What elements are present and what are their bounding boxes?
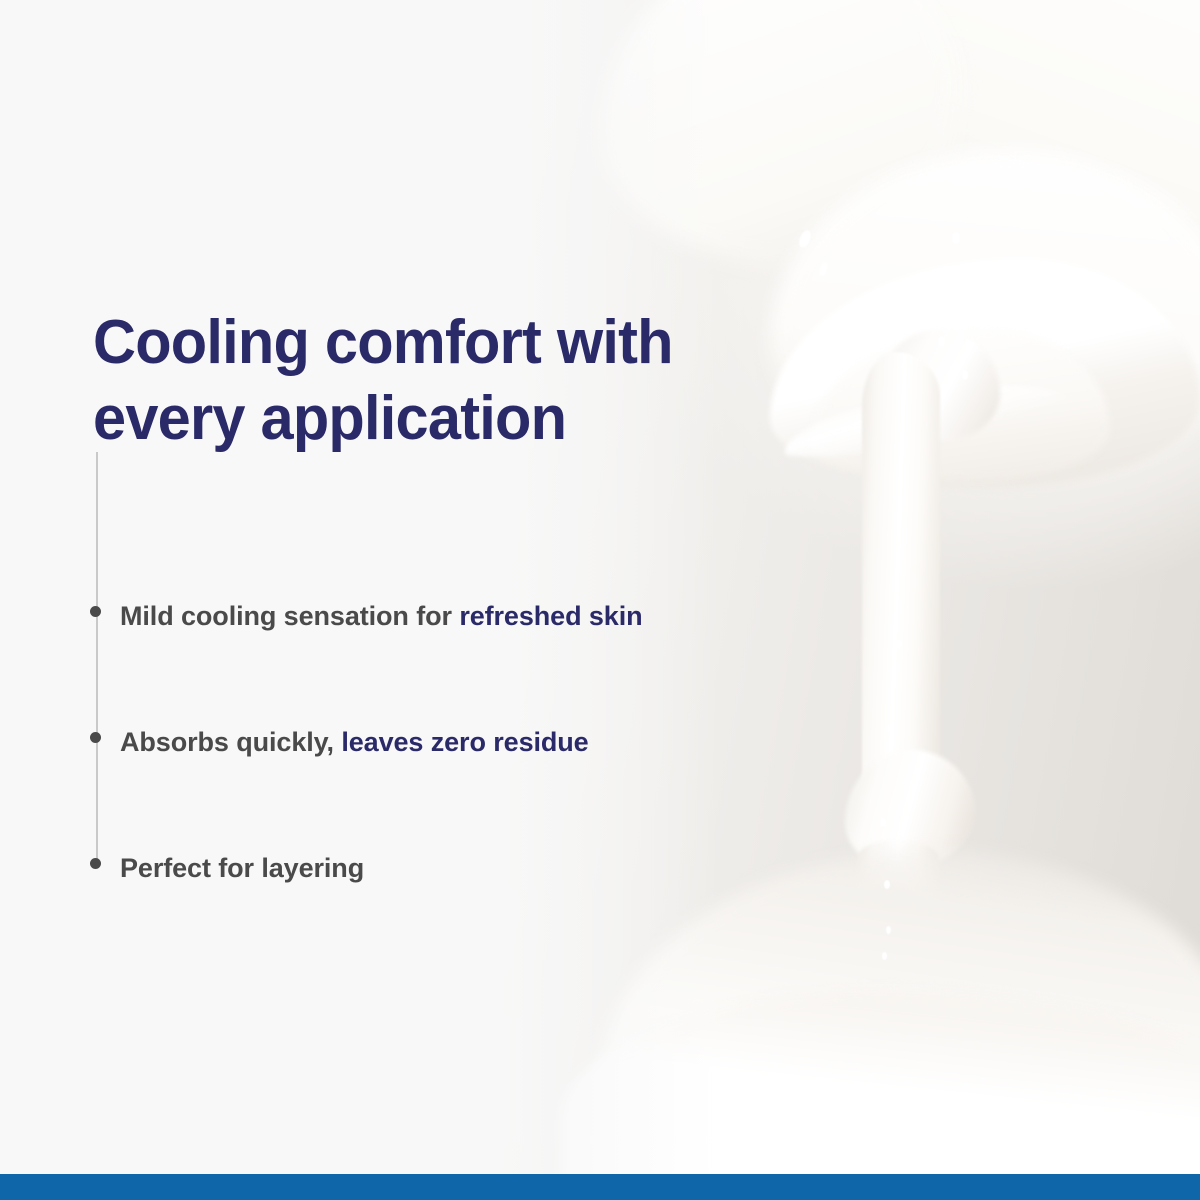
benefit-lead: Perfect for layering — [120, 853, 364, 883]
bullet-dot-icon — [90, 732, 101, 743]
benefit-text: Absorbs quickly, leaves zero residue — [120, 722, 680, 763]
benefit-lead: Absorbs quickly, — [120, 727, 341, 757]
content-layer: Cooling comfort with every application M… — [0, 0, 1200, 1200]
benefit-text: Perfect for layering — [120, 848, 680, 889]
promo-card: Cooling comfort with every application M… — [0, 0, 1200, 1200]
list-item: Absorbs quickly, leaves zero residue — [120, 722, 680, 763]
benefit-accent: refreshed skin — [459, 601, 642, 631]
bullet-dot-icon — [90, 606, 101, 617]
headline-line-2: every application — [93, 381, 784, 457]
list-item: Mild cooling sensation for refreshed ski… — [120, 596, 680, 637]
benefit-accent: leaves zero residue — [341, 727, 588, 757]
benefit-lead: Mild cooling sensation for — [120, 601, 459, 631]
headline-line-1: Cooling comfort with — [93, 305, 784, 381]
page-title: Cooling comfort with every application — [93, 305, 784, 456]
timeline-rail — [96, 452, 98, 865]
brand-bottom-bar — [0, 1174, 1200, 1200]
bullet-dot-icon — [90, 858, 101, 869]
benefit-text: Mild cooling sensation for refreshed ski… — [120, 596, 680, 637]
list-item: Perfect for layering — [120, 848, 680, 889]
